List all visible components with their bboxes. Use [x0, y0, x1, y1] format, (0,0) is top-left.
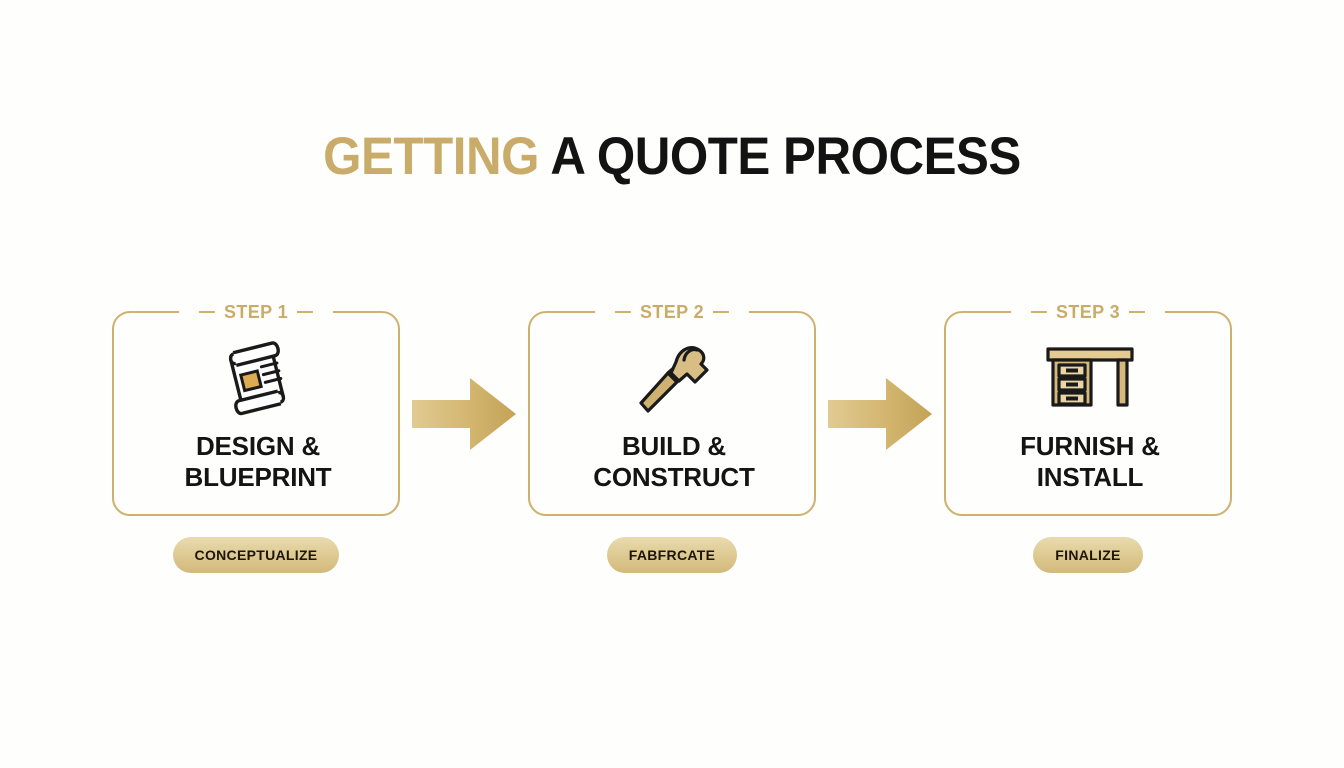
arrow-step2-to-step3: [828, 376, 932, 452]
badge-cell-1: CONCEPTUALIZE: [112, 537, 400, 575]
step-icon-container-2: [530, 335, 818, 421]
step-label-text-1: STEP 1: [224, 302, 288, 322]
step-label-1: STEP 1: [179, 301, 333, 323]
step-column-1: STEP 1: [112, 311, 400, 516]
step-title-3: FURNISH & INSTALL: [946, 431, 1234, 493]
arrow-cell-2: [816, 311, 944, 516]
step-column-2: STEP 2 BUILD & CO: [528, 311, 816, 516]
step-label-dash-right-icon: [713, 311, 729, 313]
step-title-1: DESIGN & BLUEPRINT: [114, 431, 402, 493]
step-label-dash-left-icon: [615, 311, 631, 313]
step-card-3[interactable]: STEP 3: [944, 311, 1232, 516]
badge-cell-2: FABFRCATE: [528, 537, 816, 575]
step-label-2: STEP 2: [595, 301, 749, 323]
step-title-line2-1: BLUEPRINT: [114, 462, 402, 493]
badge-finalize[interactable]: FINALIZE: [1033, 537, 1142, 573]
badge-conceptualize[interactable]: CONCEPTUALIZE: [173, 537, 340, 573]
step-label-text-2: STEP 2: [640, 302, 704, 322]
step-label-text-3: STEP 3: [1056, 302, 1120, 322]
arrow-step1-to-step2: [412, 376, 516, 452]
step-card-2[interactable]: STEP 2 BUILD & CO: [528, 311, 816, 516]
step-card-1[interactable]: STEP 1: [112, 311, 400, 516]
badge-fabricate[interactable]: FABFRCATE: [607, 537, 737, 573]
step-title-line1-2: BUILD &: [530, 431, 818, 462]
step-label-dash-left-icon: [199, 311, 215, 313]
step-title-line2-3: INSTALL: [946, 462, 1234, 493]
page-title-rest: A QUOTE PROCESS: [539, 127, 1021, 186]
step-column-3: STEP 3: [944, 311, 1232, 516]
step-title-2: BUILD & CONSTRUCT: [530, 431, 818, 493]
hammer-icon: [635, 337, 713, 419]
step-label-dash-left-icon: [1031, 311, 1047, 313]
desk-icon: [1044, 345, 1136, 411]
step-title-line2-2: CONSTRUCT: [530, 462, 818, 493]
blueprint-scroll-icon: [216, 338, 300, 418]
step-title-line1-3: FURNISH &: [946, 431, 1234, 462]
page-title-highlight: GETTING: [323, 127, 539, 186]
step-label-dash-right-icon: [1129, 311, 1145, 313]
step-icon-container-1: [114, 335, 402, 421]
badge-row: CONCEPTUALIZE FABFRCATE FINALIZE: [112, 537, 1232, 575]
step-icon-container-3: [946, 335, 1234, 421]
step-title-line1-1: DESIGN &: [114, 431, 402, 462]
badge-gap-2: [816, 537, 944, 575]
step-label-dash-right-icon: [297, 311, 313, 313]
page-title: GETTING A QUOTE PROCESS: [47, 130, 1297, 183]
badge-gap-1: [400, 537, 528, 575]
badge-cell-3: FINALIZE: [944, 537, 1232, 575]
arrow-cell-1: [400, 311, 528, 516]
step-label-3: STEP 3: [1011, 301, 1165, 323]
page-title-container: GETTING A QUOTE PROCESS: [0, 130, 1344, 183]
process-flow: STEP 1: [112, 311, 1232, 516]
